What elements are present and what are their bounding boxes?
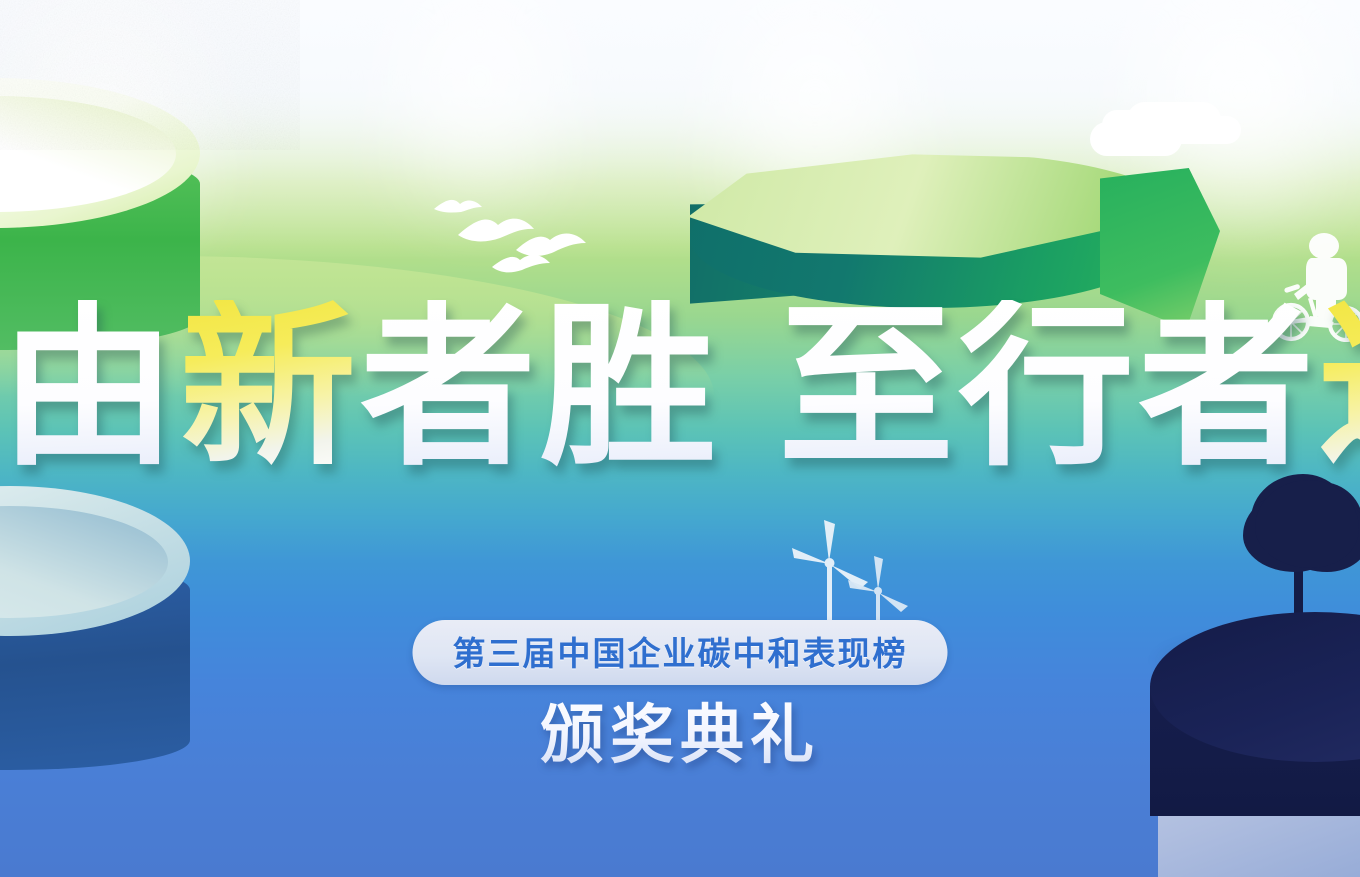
headline-char: 者 xyxy=(1138,300,1318,476)
flying-birds-group xyxy=(430,195,610,290)
flying-bird-icon xyxy=(516,234,586,256)
flying-bird-icon xyxy=(458,219,534,242)
page-title: 由新者胜至行者达 xyxy=(0,300,1360,476)
headline-char: 行 xyxy=(958,300,1138,476)
headline-char: 由 xyxy=(0,300,180,476)
headline-char: 达 xyxy=(1318,300,1360,476)
headline-char: 新 xyxy=(180,300,360,476)
cloud-icon xyxy=(1090,122,1182,156)
ceremony-title: 颁奖典礼 xyxy=(0,684,1360,776)
flying-bird-icon xyxy=(492,255,550,272)
subtitle-banner: 第三届中国企业碳中和表现榜 xyxy=(413,620,948,685)
flying-bird-icon xyxy=(434,200,482,213)
headline-char: 者 xyxy=(360,300,540,476)
subtitle-text: 第三届中国企业碳中和表现榜 xyxy=(453,634,908,673)
poster-canvas: 由新者胜至行者达 第三届中国企业碳中和表现榜 颁奖典礼 xyxy=(0,0,1360,877)
tree-icon xyxy=(1255,480,1359,568)
headline-char: 胜 xyxy=(540,300,720,476)
headline-char: 至 xyxy=(778,300,958,476)
